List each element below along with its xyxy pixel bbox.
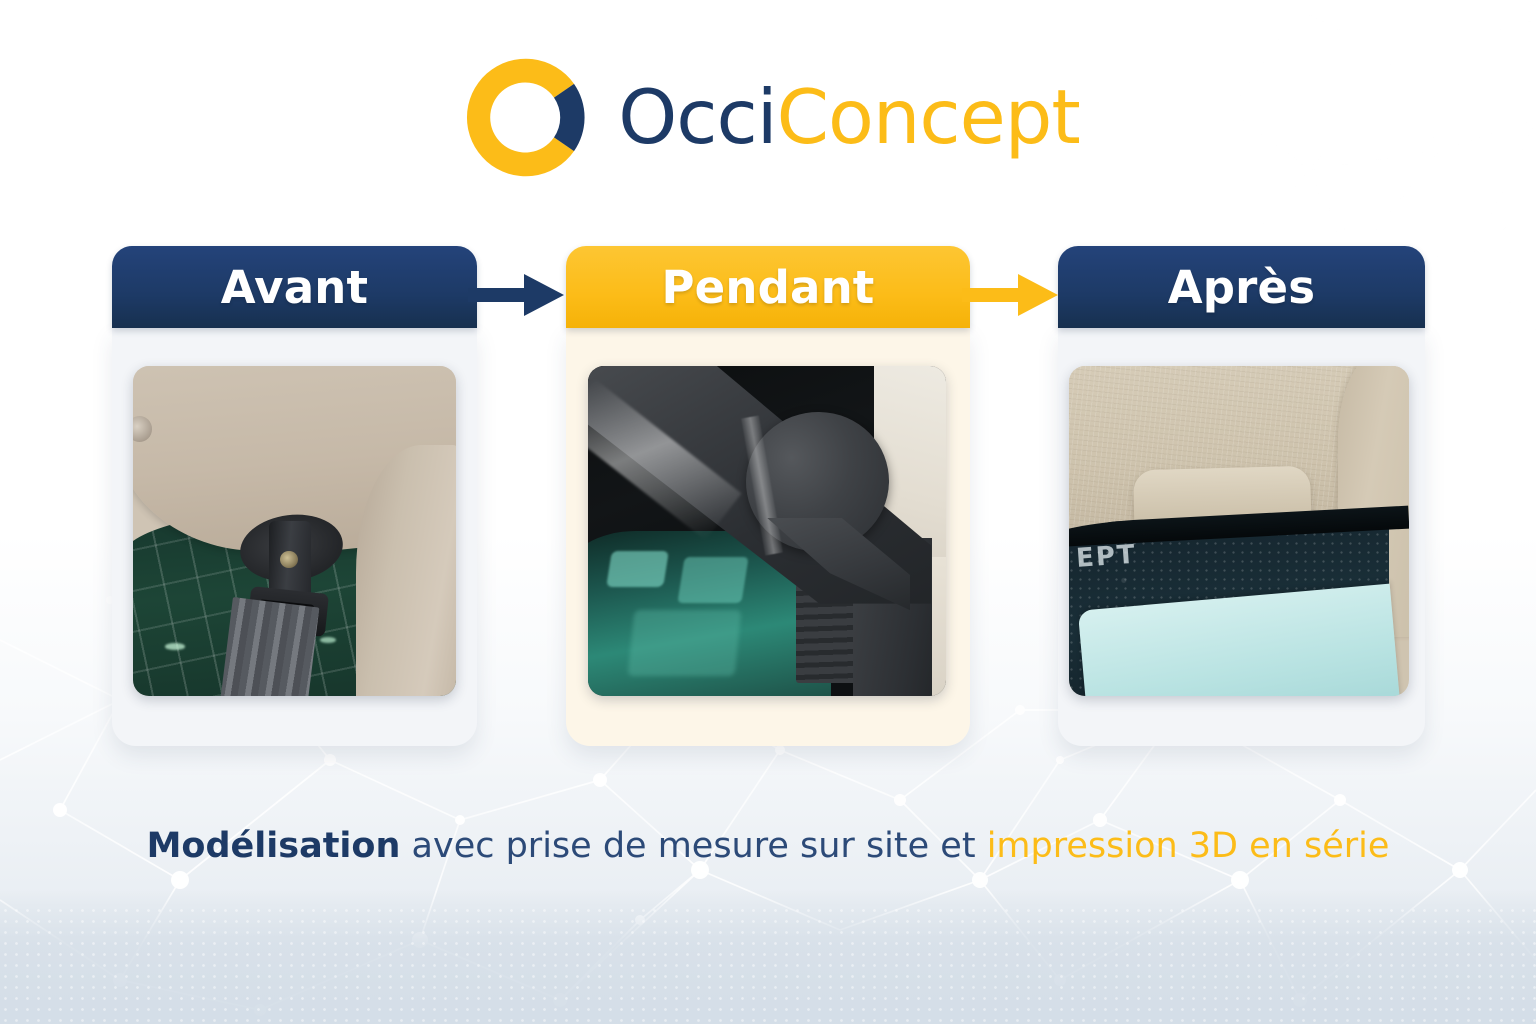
- photo-pendant-3d-printed-prototype-part: [588, 366, 946, 696]
- brand-name-occi: Occi: [618, 73, 776, 161]
- step-card-pendant-label: Pendant: [661, 265, 874, 310]
- photo-avant-seatbelt-anchor-original-trim: [133, 366, 456, 696]
- arrow-avant-to-pendant: [468, 268, 568, 322]
- photo-apres-glass-text: EPT: [1075, 538, 1158, 570]
- step-card-apres-label: Après: [1168, 265, 1316, 310]
- caption-bold-part: Modélisation: [147, 826, 401, 866]
- photo-apres-finished-trim-cover-installed: EPT: [1069, 366, 1409, 696]
- brand-logo: OcciConcept: [0, 42, 1536, 192]
- step-card-pendant[interactable]: Pendant: [566, 246, 970, 746]
- caption-line: Modélisation avec prise de mesure sur si…: [0, 826, 1536, 866]
- brand-name-concept: Concept: [777, 73, 1080, 161]
- caption-normal-part: avec prise de mesure sur site et: [400, 826, 986, 866]
- step-card-avant-label: Avant: [221, 265, 368, 310]
- step-card-apres[interactable]: Après EPT: [1058, 246, 1425, 746]
- step-card-apres-header: Après: [1058, 246, 1425, 328]
- step-card-avant[interactable]: Avant: [112, 246, 477, 746]
- arrow-pendant-to-apres: [962, 268, 1062, 322]
- occiconcept-ring-logo-icon: [456, 45, 596, 190]
- step-card-avant-header: Avant: [112, 246, 477, 328]
- caption-accent-part: impression 3D en série: [987, 826, 1390, 866]
- brand-wordmark: OcciConcept: [618, 80, 1080, 155]
- step-card-pendant-header: Pendant: [566, 246, 970, 328]
